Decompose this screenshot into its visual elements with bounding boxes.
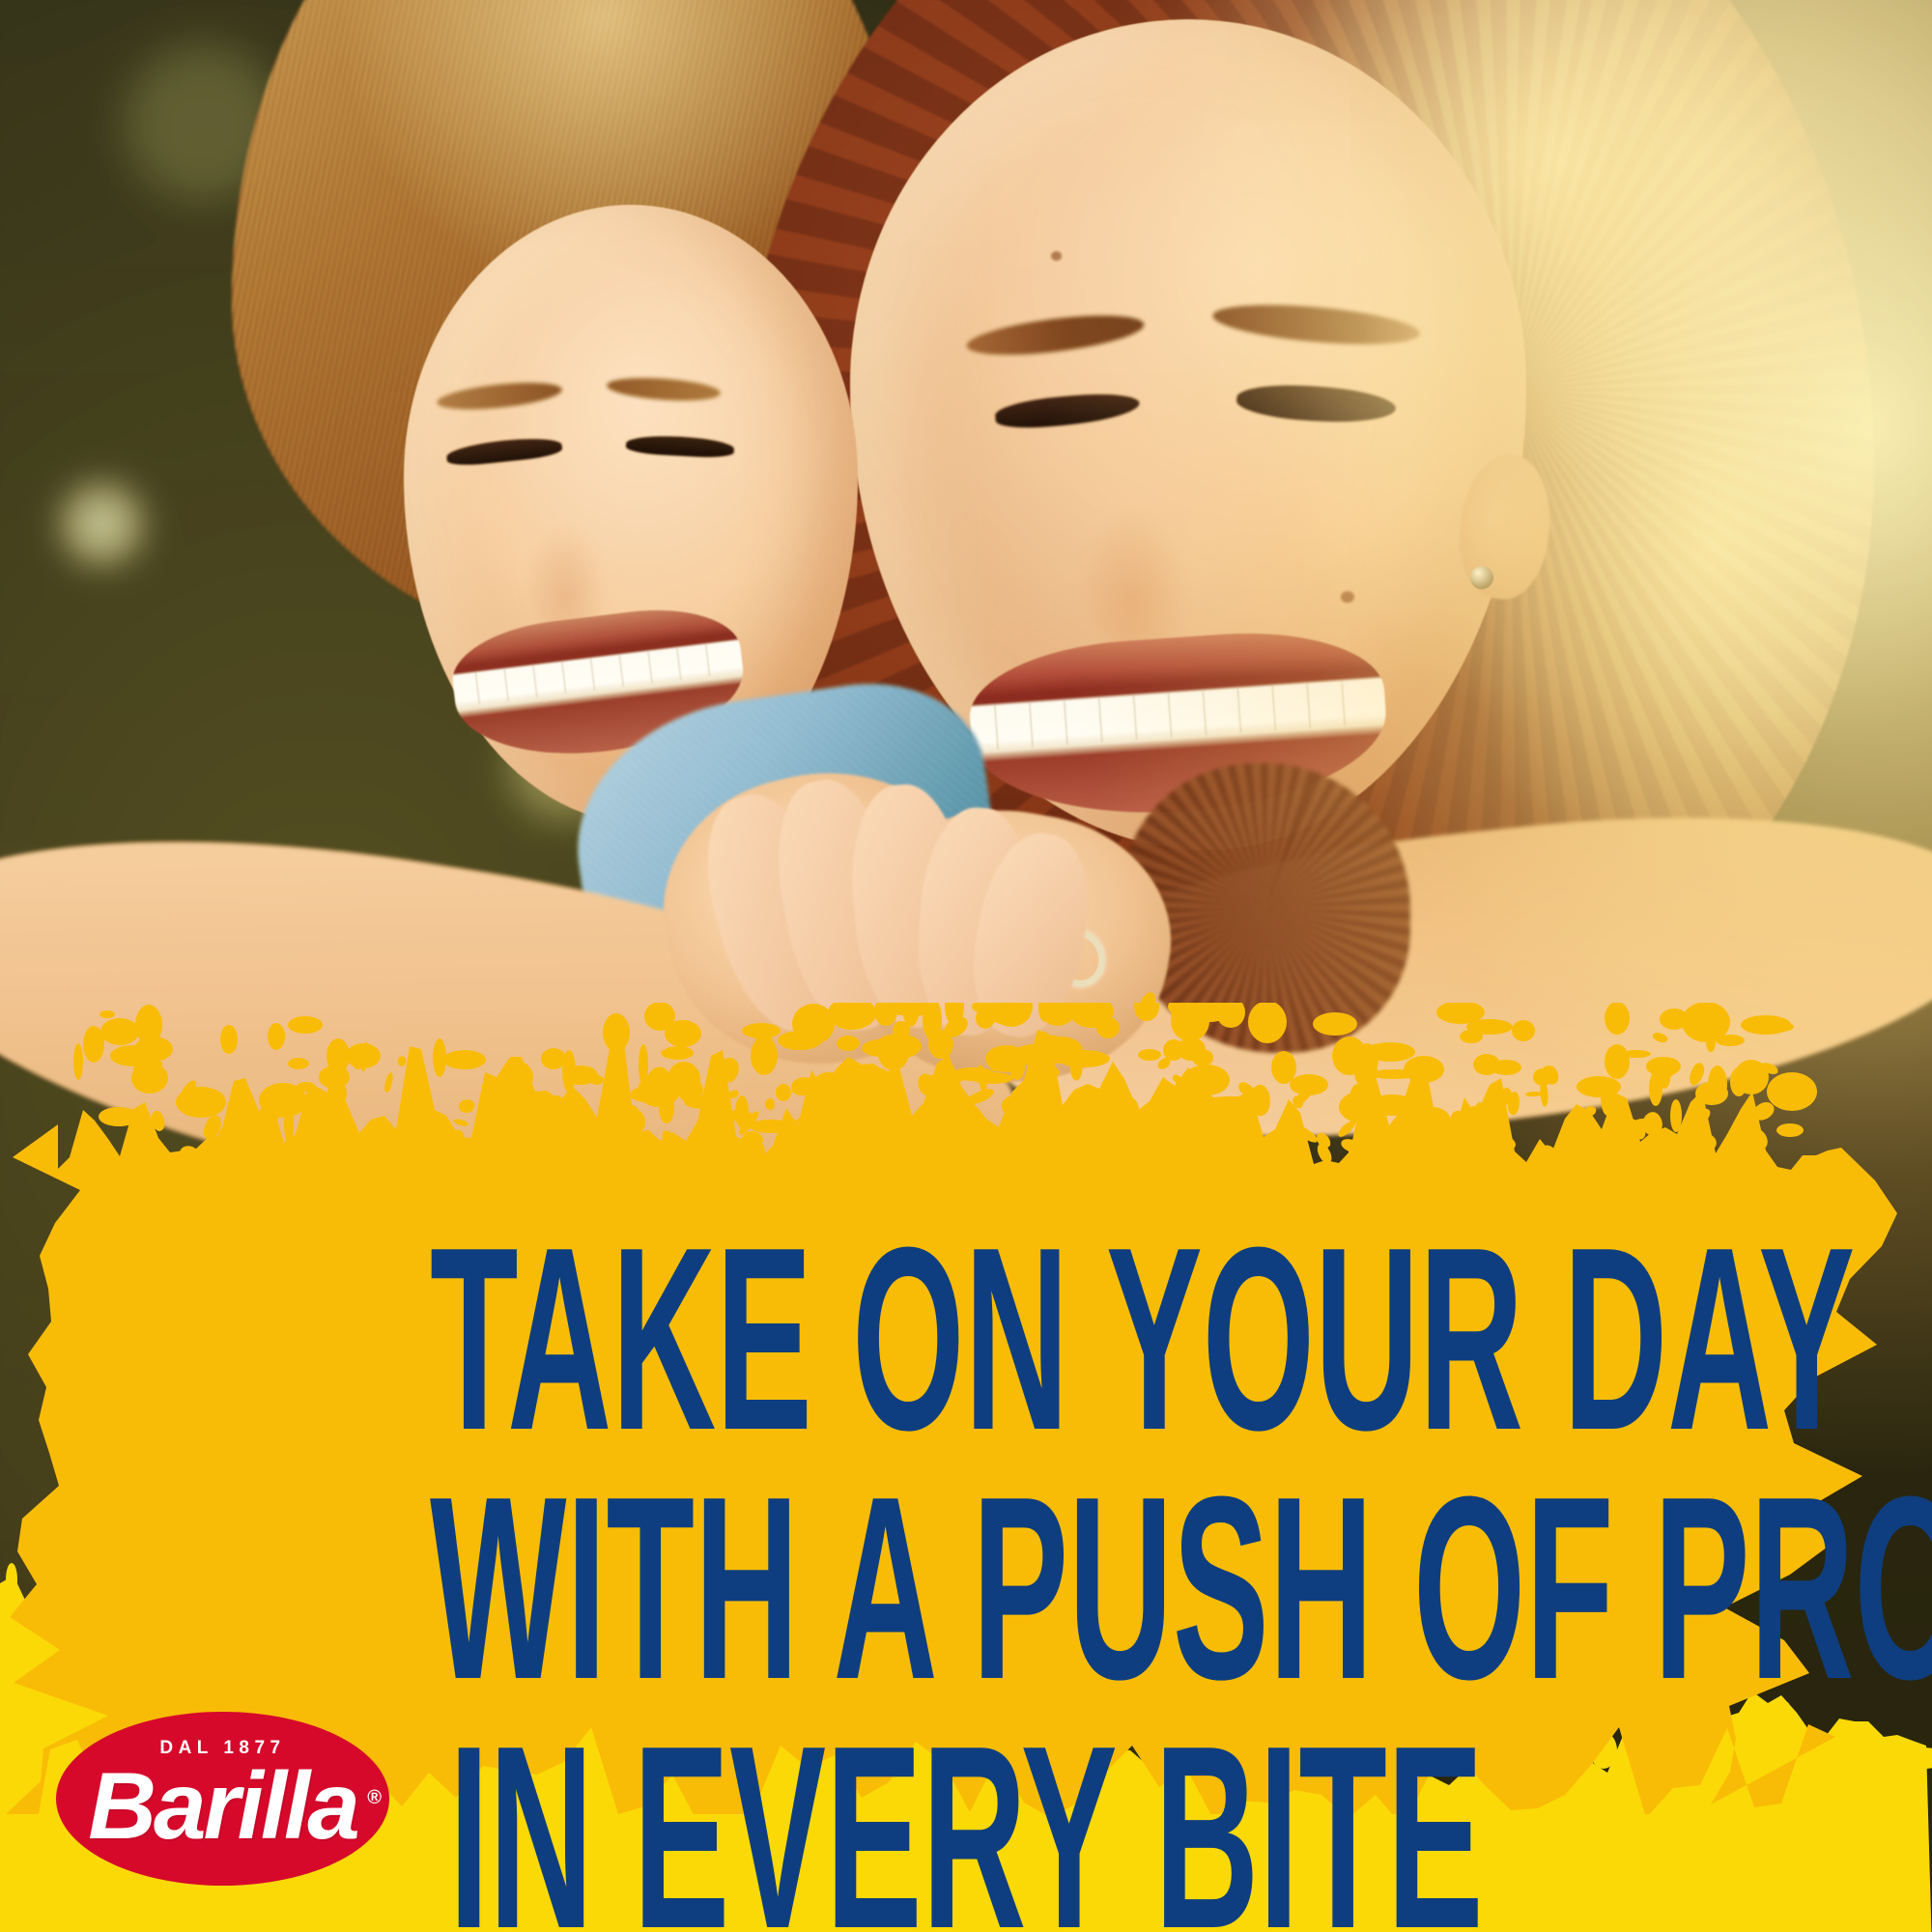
paint-speckle <box>145 1060 163 1071</box>
registered-trademark-icon: ® <box>367 1787 382 1809</box>
paint-speckle <box>847 1131 862 1140</box>
barilla-logo: DAL 1877 Barilla ® <box>56 1712 389 1886</box>
paint-speckle <box>699 1138 735 1174</box>
paint-speckle <box>1652 1067 1673 1080</box>
paint-speckle <box>213 1134 235 1147</box>
paint-speckle <box>1749 1098 1777 1125</box>
headline-line-3: IN EVERY BITE <box>430 1714 1502 1932</box>
paint-speckle <box>1759 1062 1779 1076</box>
earring <box>1470 566 1493 589</box>
paint-speckle <box>1183 1014 1203 1034</box>
paint-speckle <box>285 1138 308 1156</box>
paint-speckle <box>788 1073 817 1099</box>
paint-speckle <box>714 1054 744 1085</box>
paint-speckle <box>1042 1034 1074 1052</box>
paint-speckle <box>941 1011 971 1041</box>
paint-speckle <box>130 1144 161 1161</box>
headline-line-1: TAKE ON YOUR DAY <box>430 1215 1502 1464</box>
paint-speckle <box>626 1139 642 1160</box>
paint-speckle <box>743 1131 763 1146</box>
paint-speckle <box>864 1144 886 1167</box>
paint-speckle <box>1384 1131 1403 1150</box>
paint-speckle <box>397 1122 411 1136</box>
paint-speckle <box>360 1041 368 1071</box>
paint-speckle <box>1651 1030 1668 1044</box>
woman-nose <box>1082 473 1207 657</box>
paint-speckle <box>726 1090 740 1100</box>
paint-speckle <box>1683 1104 1713 1134</box>
paint-speckle <box>1539 1080 1549 1107</box>
paint-speckle <box>626 1109 646 1134</box>
paint-speckle <box>699 1112 729 1126</box>
logo-brand-name: Barilla <box>56 1758 389 1853</box>
paint-speckle <box>1068 1051 1084 1081</box>
paint-speckle <box>177 1078 198 1103</box>
paint-speckles <box>0 985 1932 1217</box>
paint-speckle <box>571 1109 586 1125</box>
paint-speckle <box>265 1108 280 1126</box>
paint-speckle <box>1581 1132 1598 1149</box>
paint-speckle <box>830 1146 847 1161</box>
paint-speckle <box>1135 990 1158 1022</box>
paint-speckle <box>1499 1134 1519 1151</box>
paint-speckle <box>383 1071 395 1093</box>
paint-speckle <box>988 1050 1009 1072</box>
paint-speckle <box>402 1140 420 1158</box>
barilla-advertisement: TAKE ON YOUR DAY WITH A PUSH OF PROTEIN … <box>0 0 1932 1932</box>
paint-speckle <box>1169 1081 1198 1116</box>
paint-speckle <box>998 1092 1025 1120</box>
paint-speckle <box>1155 1056 1172 1070</box>
paint-speckle <box>870 1120 890 1149</box>
paint-speckle <box>1650 1141 1665 1159</box>
paint-speckle <box>540 1142 559 1164</box>
paint-speckle <box>458 1097 476 1114</box>
paint-speckle <box>729 1107 758 1127</box>
paint-speckle <box>448 1127 468 1147</box>
paint-speckle <box>614 1134 623 1165</box>
paint-speckle <box>1027 1082 1039 1092</box>
paint-speckle <box>396 1055 408 1066</box>
paint-speckle <box>661 1129 676 1151</box>
paint-speckle <box>1583 1105 1597 1117</box>
paint-speckle <box>1686 1061 1708 1087</box>
paint-speckle <box>178 1144 200 1165</box>
paint-speckle <box>1746 1125 1771 1152</box>
paint-speckle <box>487 1139 516 1151</box>
paint-speckle <box>660 1049 672 1059</box>
beauty-mark <box>1341 591 1354 603</box>
paint-speckle <box>949 1065 973 1087</box>
beauty-mark <box>1051 251 1062 261</box>
paint-speckle <box>645 1064 671 1091</box>
paint-speckle <box>1336 1118 1357 1139</box>
paint-speckle <box>1542 1144 1556 1154</box>
paint-speckle <box>452 1118 469 1128</box>
paint-speckle <box>914 1071 938 1097</box>
headline-line-2: WITH A PUSH OF PROTEIN <box>430 1464 1502 1714</box>
paint-speckle <box>1099 1094 1111 1114</box>
paint-speckle <box>795 1118 805 1124</box>
paint-speckle <box>540 1092 564 1115</box>
paint-speckle <box>1277 1139 1308 1157</box>
